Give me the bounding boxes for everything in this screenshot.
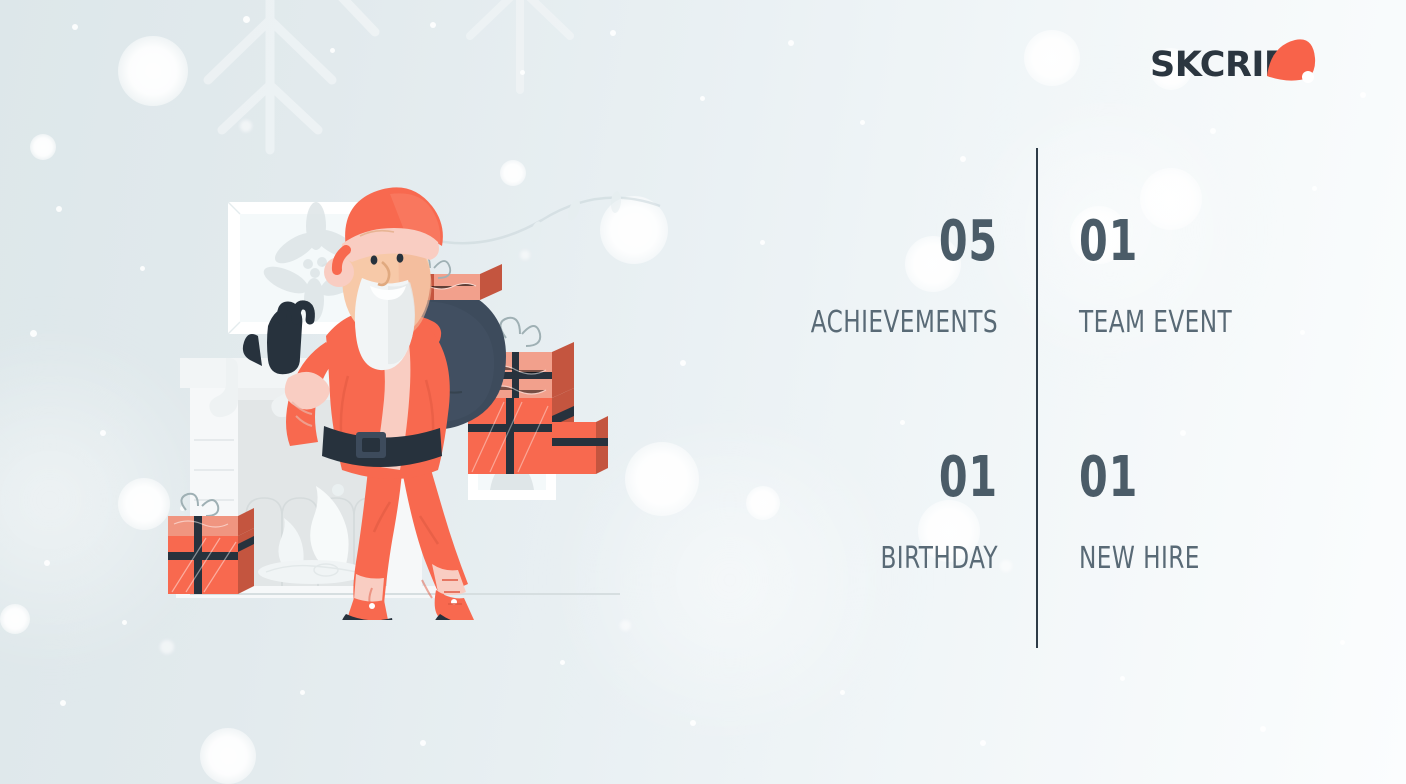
snow-dot	[122, 620, 127, 625]
holiday-stats-poster: SKCRIPT 05 ACHIEVEMENTS 01 TEAM EVENT 01…	[0, 0, 1406, 784]
snow-dot	[330, 48, 335, 53]
stat-new-hire-value: 01	[1079, 450, 1284, 506]
snow-dot	[900, 420, 905, 425]
stat-team-event-value: 01	[1079, 214, 1284, 270]
snow-dot	[610, 30, 616, 36]
snow-dot	[1210, 128, 1216, 134]
santa-hat-icon	[1261, 36, 1317, 84]
santa-illustration	[150, 140, 670, 620]
snow-dot	[243, 16, 250, 23]
stat-birthday-value: 01	[793, 450, 998, 506]
gift-bow	[500, 318, 540, 346]
bokeh-circle	[200, 728, 256, 784]
bokeh-circle	[118, 36, 188, 106]
snow-dot	[690, 720, 696, 726]
stats-divider	[1036, 148, 1038, 648]
snow-dot	[60, 700, 66, 706]
snow-dot	[140, 266, 145, 271]
snow-dot	[700, 96, 705, 101]
stat-birthday-label: BIRTHDAY	[783, 544, 998, 574]
snow-dot	[840, 690, 845, 695]
stat-birthday: 01 BIRTHDAY	[748, 450, 998, 574]
brand-logo[interactable]: SKCRIPT	[1150, 42, 1325, 98]
bokeh-circle	[1024, 30, 1080, 86]
snow-dot	[430, 22, 436, 28]
log-icon	[258, 560, 366, 584]
snow-dot-soft	[160, 640, 174, 654]
snow-dot	[520, 70, 525, 75]
snow-dot	[960, 156, 966, 162]
snow-dot	[1340, 640, 1345, 645]
snow-dot	[100, 430, 106, 436]
snow-dot-soft	[620, 620, 631, 631]
snow-dot	[980, 740, 986, 746]
stat-new-hire: 01 NEW HIRE	[1079, 450, 1329, 574]
snow-dot	[1260, 726, 1266, 732]
bokeh-circle	[0, 604, 30, 634]
stat-achievements: 05 ACHIEVEMENTS	[748, 214, 998, 338]
snow-dot	[560, 660, 565, 665]
snow-dot	[420, 740, 426, 746]
snow-dot	[1360, 92, 1366, 98]
bokeh-circle	[30, 134, 56, 160]
snow-dot	[860, 120, 865, 125]
snow-dot	[72, 24, 78, 30]
snow-dot	[680, 360, 686, 366]
stat-achievements-label: ACHIEVEMENTS	[783, 308, 998, 338]
snow-dot	[1120, 676, 1125, 681]
snow-dot-soft	[1000, 560, 1012, 572]
snow-dot	[44, 560, 50, 566]
snow-dot	[300, 690, 305, 695]
snow-dot-soft	[240, 120, 252, 132]
stat-team-event-label: TEAM EVENT	[1079, 308, 1294, 338]
snow-dot	[788, 40, 794, 46]
snow-dot	[1312, 186, 1317, 191]
stat-team-event: 01 TEAM EVENT	[1079, 214, 1329, 338]
snowflake-watermark-secondary-icon	[430, 0, 630, 120]
stat-achievements-value: 05	[793, 214, 998, 270]
snow-dot	[1180, 430, 1186, 436]
snow-dot	[30, 330, 37, 337]
snow-dot	[56, 206, 62, 212]
stat-new-hire-label: NEW HIRE	[1079, 544, 1294, 574]
